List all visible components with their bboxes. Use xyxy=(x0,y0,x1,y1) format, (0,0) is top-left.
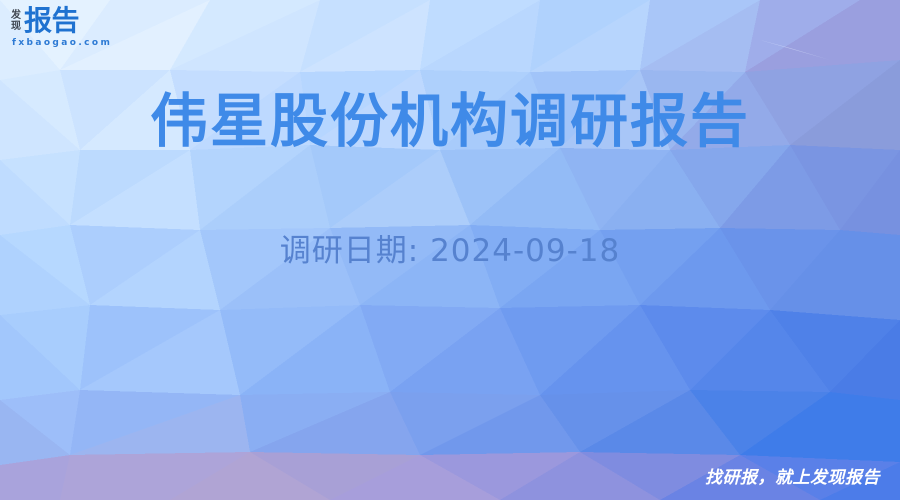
page-title: 伟星股份机构调研报告 xyxy=(0,86,900,156)
brand-name: 报告 xyxy=(24,7,79,35)
footer-slogan: 找研报，就上发现报告 xyxy=(705,467,880,489)
survey-date: 调研日期: 2024-09-18 xyxy=(0,229,900,273)
report-cover: 发 现 报告 fxbaogao.com 伟星股份机构调研报告 调研日期: 202… xyxy=(0,0,900,500)
brand-url: fxbaogao.com xyxy=(12,38,112,48)
brand-mark-stacked: 发 现 xyxy=(11,10,21,33)
brand-mark-top: 发 xyxy=(11,10,21,21)
brand-mark-bottom: 现 xyxy=(11,21,21,32)
brand-logo-row: 发 现 报告 xyxy=(11,7,79,35)
brand-logo[interactable]: 发 现 报告 fxbaogao.com xyxy=(11,7,112,48)
